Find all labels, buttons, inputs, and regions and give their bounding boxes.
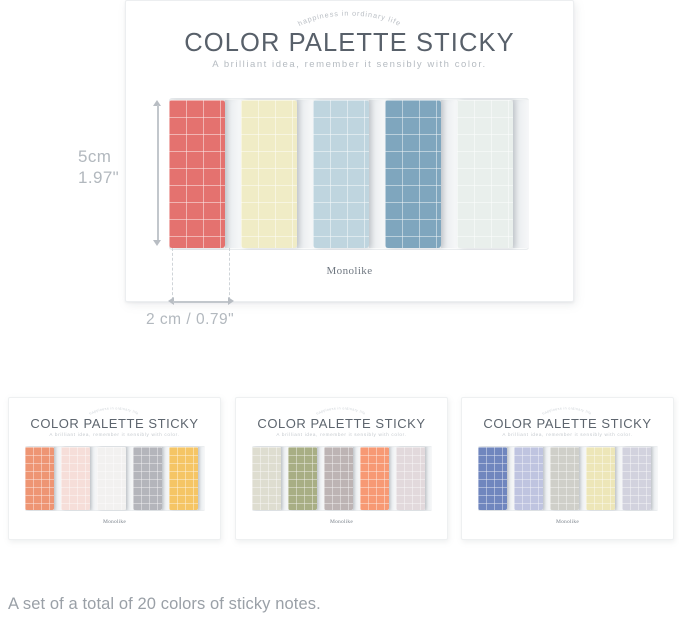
- variant-note-off-white: [97, 447, 126, 510]
- variant-note-gap: [126, 447, 133, 510]
- hero-note-gap: [297, 100, 313, 248]
- hero-note-slot: [457, 98, 529, 250]
- arrow-right-icon: [228, 297, 234, 305]
- variant-note-slot: [61, 446, 97, 511]
- variant-brand-name: Monolike: [462, 519, 673, 525]
- svg-text:happiness in ordinary life: happiness in ordinary life: [296, 9, 403, 28]
- variant-note-pale-lavender: [396, 447, 425, 510]
- variant-note-gap: [425, 447, 432, 510]
- height-dimension-inch: 1.97": [78, 167, 144, 188]
- variant-note-gap: [281, 447, 288, 510]
- height-dimension-label: 5cm 1.97": [78, 146, 144, 188]
- variant-title: COLOR PALETTE STICKY: [236, 416, 447, 431]
- variant-note-slot: [133, 446, 169, 511]
- hero-note-gap: [513, 100, 529, 248]
- variant-brand-name: Monolike: [9, 519, 220, 525]
- variant-sticky-note-tray: [252, 446, 432, 511]
- variant-note-slot: [622, 446, 658, 511]
- variant-note-gap: [198, 447, 205, 510]
- svg-text:happiness in ordinary life: happiness in ordinary life: [316, 406, 367, 415]
- hero-brand-name: Monolike: [126, 265, 573, 277]
- variant-note-slot: [396, 446, 432, 511]
- width-dimension-label: 2 cm / 0.79": [146, 311, 286, 329]
- variant-note-gap: [651, 447, 658, 510]
- variant-title: COLOR PALETTE STICKY: [9, 416, 220, 431]
- variant-brand-name: Monolike: [236, 519, 447, 525]
- svg-text:happiness in ordinary life: happiness in ordinary life: [89, 406, 140, 415]
- variant-note-cool-gray: [133, 447, 162, 510]
- height-dimension-cm: 5cm: [78, 146, 144, 167]
- variant-note-light-gray: [550, 447, 579, 510]
- hero-arc-tagline-text: happiness in ordinary life: [296, 9, 403, 28]
- variant-note-soft-lavender: [514, 447, 543, 510]
- variant-note-warm-taupe: [324, 447, 353, 510]
- variant-note-gap: [389, 447, 396, 510]
- variant-note-coral-orange: [360, 447, 389, 510]
- variant-note-slot: [169, 446, 205, 511]
- variant-package-3: happiness in ordinary life COLOR PALETTE…: [461, 397, 674, 540]
- dimension-line: [157, 105, 159, 241]
- hero-note-slot: [169, 98, 241, 250]
- hero-subtitle: A brilliant idea, remember it sensibly w…: [126, 59, 573, 70]
- hero-sticky-note-tray: [169, 98, 529, 250]
- variant-note-sage-green: [288, 447, 317, 510]
- main-product-package: happiness in ordinary life COLOR PALETTE…: [125, 0, 574, 302]
- variant-note-pale-pink: [61, 447, 90, 510]
- variant-note-slot: [252, 446, 288, 511]
- height-dimension-arrow: [152, 100, 164, 246]
- variant-subtitle: A brilliant idea, remember it sensibly w…: [236, 432, 447, 437]
- variant-note-slot: [324, 446, 360, 511]
- variant-note-lavender-gray: [622, 447, 651, 510]
- variant-note-cream-beige: [252, 447, 281, 510]
- variant-subtitle: A brilliant idea, remember it sensibly w…: [9, 432, 220, 437]
- variant-note-gap: [353, 447, 360, 510]
- hero-note-slot: [385, 98, 457, 250]
- hero-note-gap: [369, 100, 385, 248]
- variant-note-golden-yellow: [169, 447, 198, 510]
- variant-note-slot: [586, 446, 622, 511]
- variant-note-slot: [97, 446, 133, 511]
- variant-note-slot: [360, 446, 396, 511]
- variant-note-gap: [507, 447, 514, 510]
- hero-note-gap: [441, 100, 457, 248]
- variant-arc-tagline-text: happiness in ordinary life: [316, 406, 367, 415]
- variant-note-slot: [288, 446, 324, 511]
- variant-sticky-note-tray: [25, 446, 205, 511]
- variant-package-2: happiness in ordinary life COLOR PALETTE…: [235, 397, 448, 540]
- hero-note-gap: [225, 100, 241, 248]
- hero-note-steel-blue: [385, 100, 441, 248]
- guide-line-left: [172, 248, 173, 300]
- variant-note-gap: [317, 447, 324, 510]
- variant-title: COLOR PALETTE STICKY: [462, 416, 673, 431]
- variant-note-gap: [162, 447, 169, 510]
- variant-note-gap: [543, 447, 550, 510]
- arrow-down-icon: [153, 240, 161, 246]
- guide-line-right: [229, 248, 230, 300]
- hero-note-pale-mint: [457, 100, 513, 248]
- hero-note-pale-yellow: [241, 100, 297, 248]
- variant-package-row: happiness in ordinary life COLOR PALETTE…: [0, 397, 679, 540]
- variant-note-pale-yellow: [586, 447, 615, 510]
- variant-note-gap: [579, 447, 586, 510]
- hero-note-slot: [313, 98, 385, 250]
- variant-arc-tagline-text: happiness in ordinary life: [89, 406, 140, 415]
- variant-note-slot: [550, 446, 586, 511]
- variant-note-slot: [478, 446, 514, 511]
- variant-note-salmon: [25, 447, 54, 510]
- variant-note-gap: [615, 447, 622, 510]
- variant-subtitle: A brilliant idea, remember it sensibly w…: [462, 432, 673, 437]
- variant-package-1: happiness in ordinary life COLOR PALETTE…: [8, 397, 221, 540]
- width-dimension-arrow: [168, 296, 234, 307]
- dimension-line: [173, 301, 229, 303]
- hero-title: COLOR PALETTE STICKY: [126, 29, 573, 58]
- variant-note-gap: [90, 447, 97, 510]
- variant-arc-tagline-text: happiness in ordinary life: [542, 406, 593, 415]
- product-caption: A set of a total of 20 colors of sticky …: [8, 595, 321, 614]
- hero-note-coral-red: [169, 100, 225, 248]
- svg-text:happiness in ordinary life: happiness in ordinary life: [542, 406, 593, 415]
- variant-note-periwinkle-blue: [478, 447, 507, 510]
- variant-note-slot: [514, 446, 550, 511]
- variant-sticky-note-tray: [478, 446, 658, 511]
- variant-note-gap: [54, 447, 61, 510]
- hero-note-light-blue: [313, 100, 369, 248]
- variant-note-slot: [25, 446, 61, 511]
- hero-note-slot: [241, 98, 313, 250]
